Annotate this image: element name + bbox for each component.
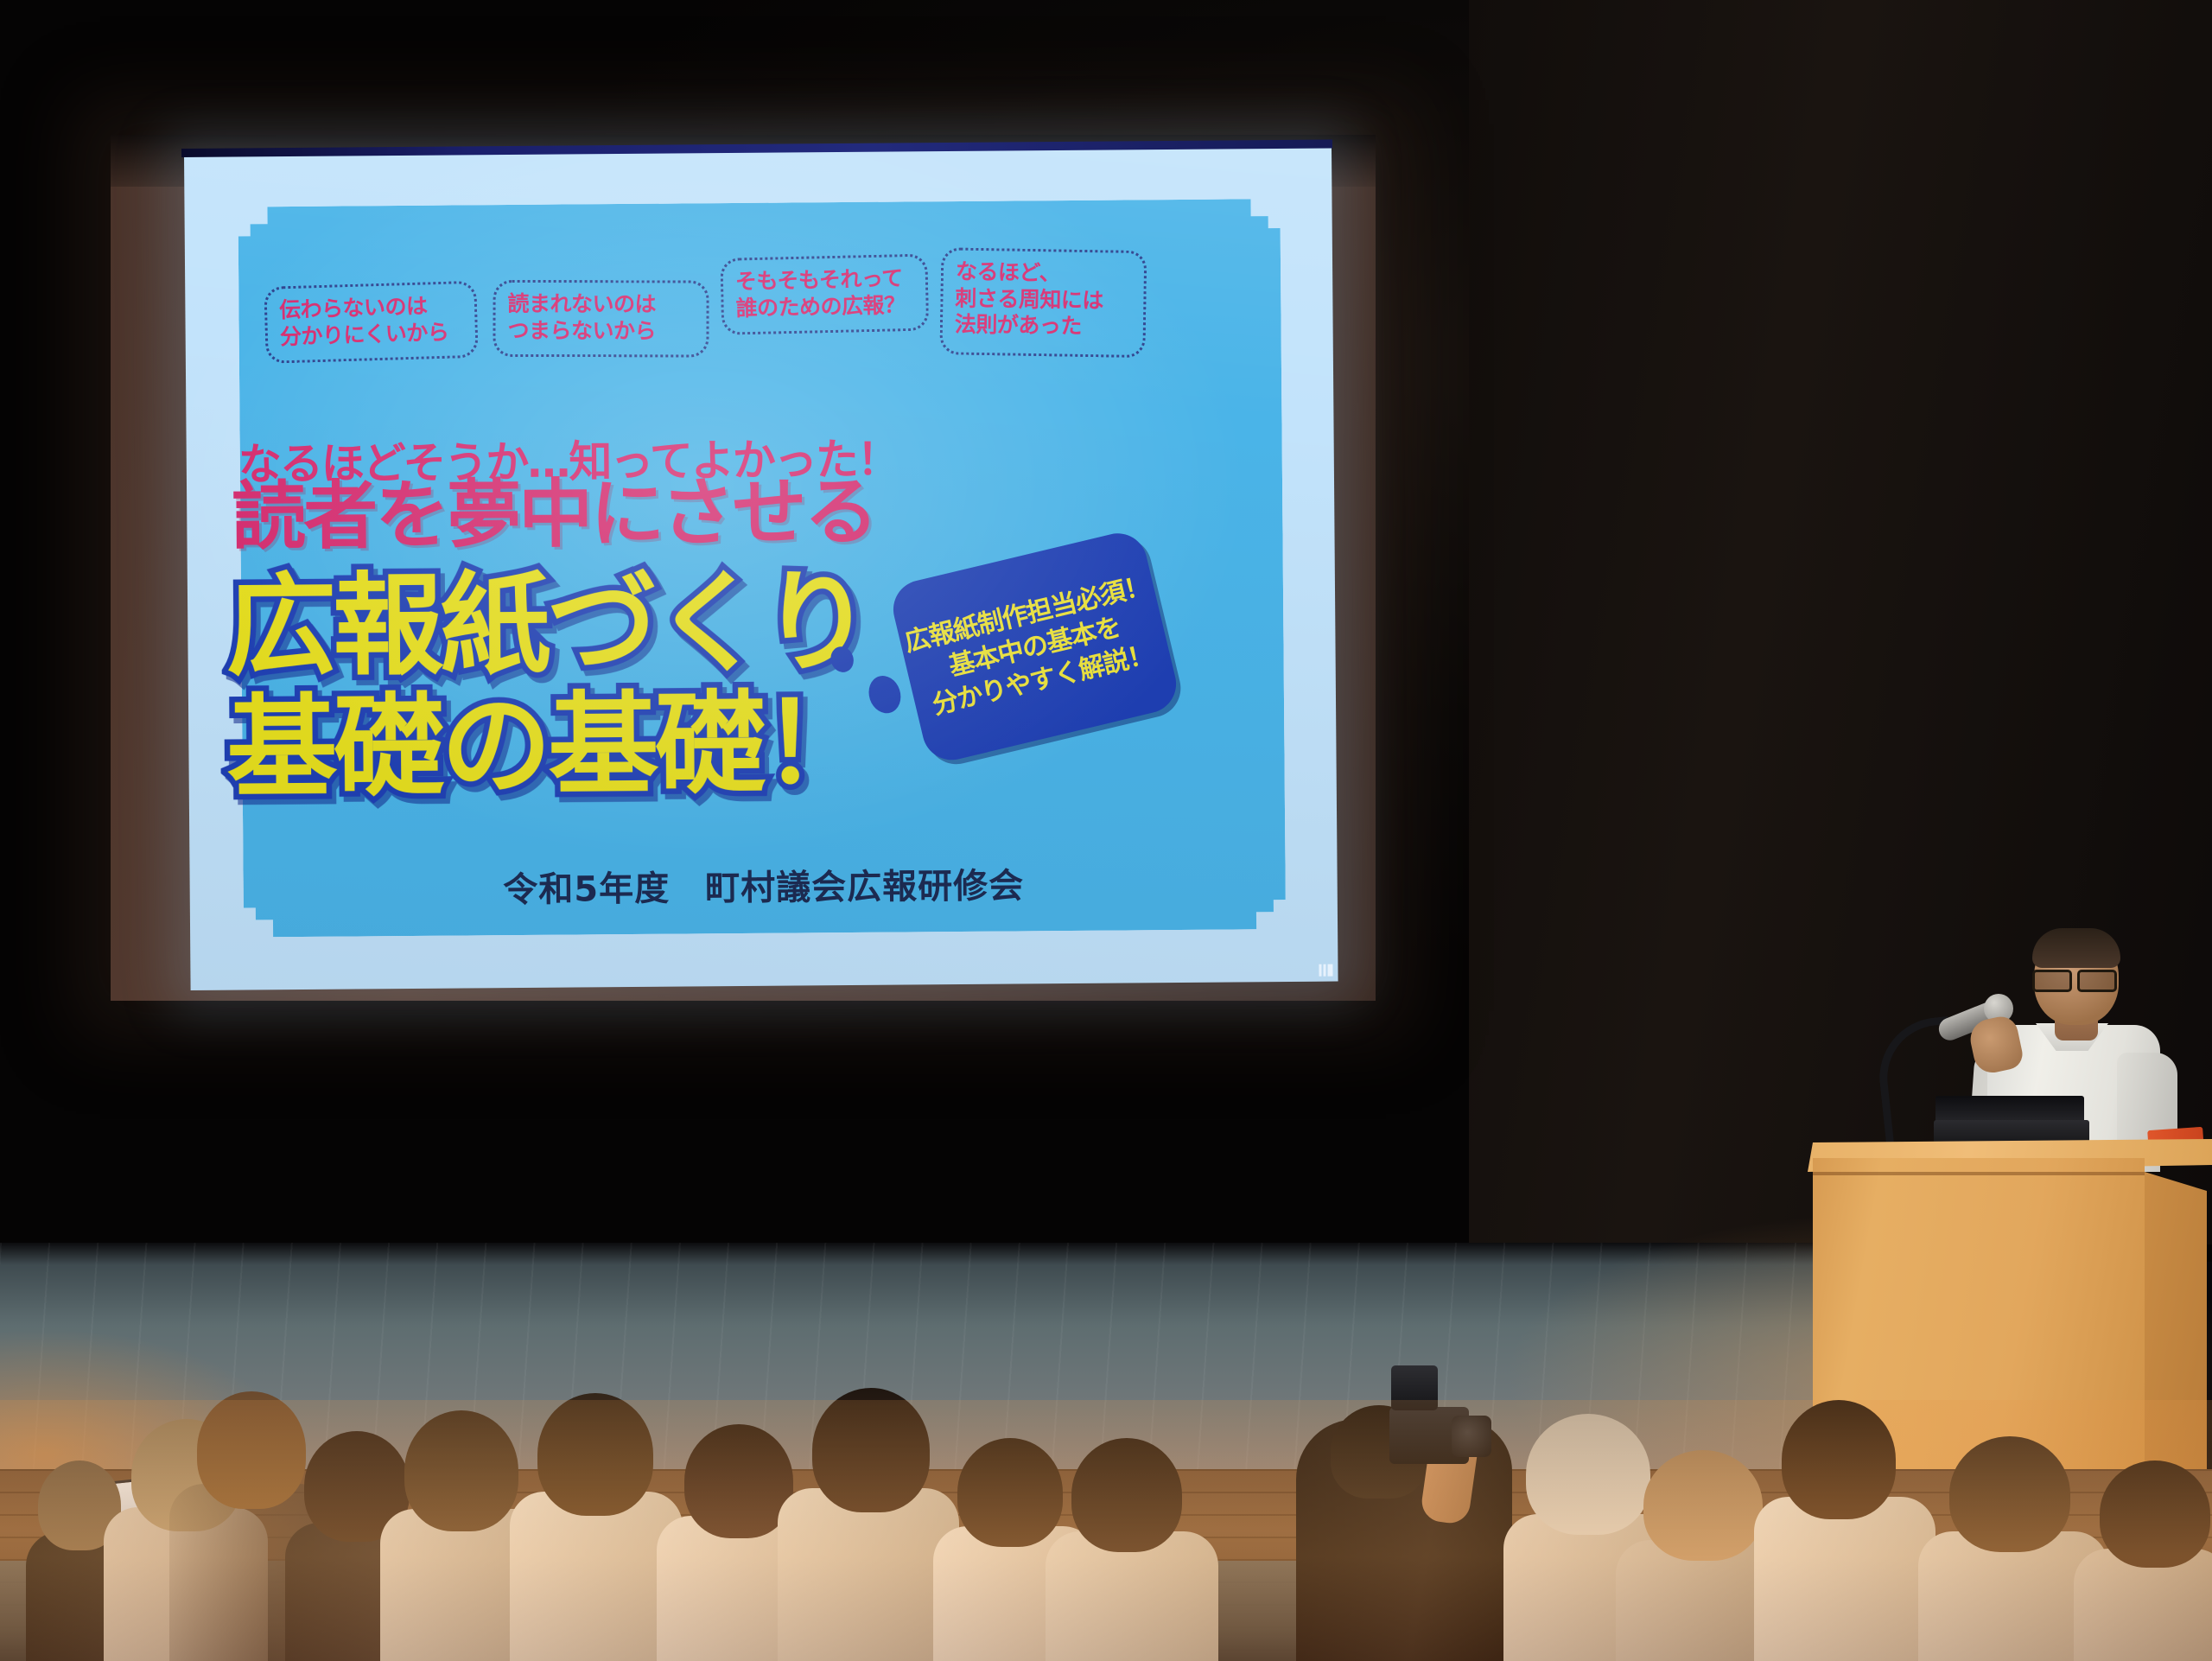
audience-head <box>1949 1436 2070 1552</box>
slide-badge-text: 広報紙制作担当必須！ 基本中の基本を 分かりやすく解説！ <box>901 569 1168 725</box>
audience-head <box>1526 1414 1650 1535</box>
speaker-hair <box>2032 928 2120 968</box>
podium-seam <box>1813 1172 2145 1175</box>
speech-bubble-4: なるほど、 刺さる周知には 法則があった <box>939 247 1147 357</box>
slide-title-line-1: 広報紙づくり <box>226 570 869 682</box>
speech-bubble-1: 伝わらないのは 分かりにくいから <box>264 281 478 364</box>
audience-head <box>1071 1438 1182 1552</box>
audience-head <box>2100 1461 2210 1568</box>
slide-headline: 読者を夢中にさせる <box>232 475 876 555</box>
slide-corner-marker-icon <box>1319 964 1332 977</box>
audience-head <box>404 1410 518 1531</box>
speech-bubble-2: 読まれないのは つまらないから <box>493 280 709 358</box>
audience-head <box>1643 1450 1763 1561</box>
audience-body <box>778 1488 959 1661</box>
audience-head <box>537 1393 653 1516</box>
presentation-scene: 伝わらないのは 分かりにくいから 読まれないのは つまらないから そもそもそれっ… <box>0 0 2212 1661</box>
audience-body <box>1754 1497 1935 1661</box>
speech-bubble-group: 伝わらないのは 分かりにくいから 読まれないのは つまらないから そもそもそれっ… <box>264 243 1181 388</box>
glasses-icon <box>2031 970 2120 989</box>
audience-head <box>1782 1400 1896 1519</box>
slide-caption: 令和5年度 町村議会広報研修会 <box>189 856 1337 914</box>
camera-flash-icon <box>1391 1365 1438 1410</box>
projected-slide: 伝わらないのは 分かりにくいから 読まれないのは つまらないから そもそもそれっ… <box>184 145 1338 990</box>
audience-head <box>957 1438 1063 1547</box>
audience-head <box>812 1388 930 1512</box>
slide-title-line-2: 基礎の基礎！ <box>226 691 870 803</box>
speech-bubble-3: そもそもそれって 誰のための広報？ <box>720 254 929 335</box>
audience-group <box>0 1417 2212 1661</box>
camera-lens-icon <box>1452 1416 1491 1457</box>
audience-head <box>197 1391 306 1509</box>
